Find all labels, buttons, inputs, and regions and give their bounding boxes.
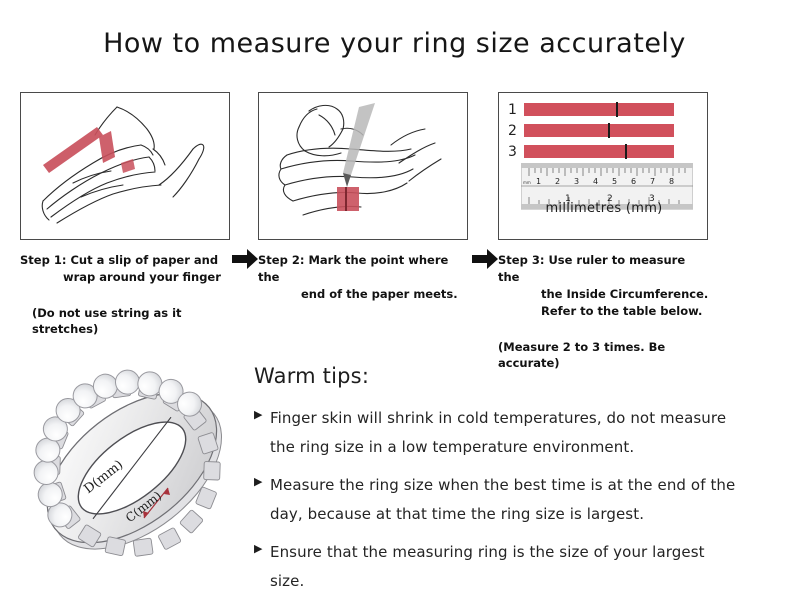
ring-illustration: D(mm) C(mm) — [18, 352, 246, 580]
strip-row: 2 — [508, 122, 704, 139]
warm-tips-section: Warm tips: ▶ Finger skin will shrink in … — [254, 364, 774, 605]
step-1-caption-line-1: Cut a slip of paper and — [70, 253, 218, 267]
warm-tips-title: Warm tips: — [254, 364, 774, 388]
step-2-caption-line-2: end of the paper meets. — [258, 286, 470, 303]
strip-bar — [524, 103, 674, 116]
step-3-panel: 1 2 3 — [498, 92, 708, 240]
tip-item: ▶ Finger skin will shrink in cold temper… — [254, 404, 774, 462]
triangle-bullet-icon: ▶ — [254, 538, 270, 554]
paper-slip-wrapped-shape — [99, 131, 135, 173]
step-3-inside-circumference-emphasis: Inside Circumference — [567, 287, 704, 301]
tip-text: Finger skin will shrink in cold temperat… — [270, 404, 740, 462]
step-column-2: Step 2: Mark the point where the end of … — [258, 92, 470, 303]
strip-number: 1 — [508, 103, 524, 117]
strip-bar — [524, 124, 674, 137]
strip-row: 1 — [508, 101, 704, 118]
strip-bar — [524, 145, 674, 158]
tip-text: Ensure that the measuring ring is the si… — [270, 538, 740, 596]
strip-number: 2 — [508, 124, 524, 138]
step-2-lead: Step 2: — [258, 253, 304, 267]
tip-text: Measure the ring size when the best time… — [270, 471, 740, 529]
step-3-caption: Step 3: Use ruler to measure the the Ins… — [498, 252, 710, 320]
step-1-panel — [20, 92, 230, 240]
svg-text:6: 6 — [631, 177, 636, 186]
hand-with-paper-slip-illustration — [21, 93, 229, 239]
measured-strips-group: 1 2 3 — [508, 101, 704, 164]
step-1-caption: Step 1: Cut a slip of paper and wrap aro… — [20, 252, 232, 286]
step-column-3: 1 2 3 — [498, 92, 710, 371]
tip-item: ▶ Ensure that the measuring ring is the … — [254, 538, 774, 596]
svg-text:3: 3 — [574, 177, 579, 186]
step-3-lead: Step 3: — [498, 253, 544, 267]
svg-text:mm: mm — [523, 180, 531, 185]
svg-text:2: 2 — [555, 177, 560, 186]
step-1-note: (Do not use string as it stretches) — [20, 305, 232, 337]
step-3-caption-line-2-post: . — [704, 287, 708, 301]
step-1-lead: Step 1: — [20, 253, 66, 267]
tip-item: ▶ Measure the ring size when the best ti… — [254, 471, 774, 529]
strip-row: 3 — [508, 143, 704, 160]
step-2-caption: Step 2: Mark the point where the end of … — [258, 252, 470, 303]
svg-text:1: 1 — [536, 177, 541, 186]
step-column-1: Step 1: Cut a slip of paper and wrap aro… — [20, 92, 232, 337]
arrow-right-icon-2 — [472, 248, 498, 270]
svg-text:5: 5 — [612, 177, 617, 186]
step-3-caption-line-2-pre: the — [541, 287, 567, 301]
strip-mark — [608, 123, 610, 138]
steps-row: Step 1: Cut a slip of paper and wrap aro… — [0, 92, 789, 342]
bottom-section: D(mm) C(mm) Warm tips: ▶ Finger skin wil… — [0, 344, 789, 606]
arrow-right-icon-1 — [232, 248, 258, 270]
hand-marking-paper-with-pen-illustration — [259, 93, 467, 239]
paper-slip-shape — [43, 127, 103, 173]
paper-strip-on-finger-shape — [337, 187, 359, 211]
ruler-unit-label: millimetres (mm) — [499, 201, 708, 216]
svg-text:8: 8 — [669, 177, 674, 186]
page-title: How to measure your ring size accurately — [0, 28, 789, 59]
strip-mark — [616, 102, 618, 117]
svg-text:4: 4 — [593, 177, 598, 186]
pen-shape — [343, 103, 375, 187]
strip-number: 3 — [508, 145, 524, 159]
step-1-caption-line-2: wrap around your finger — [20, 269, 232, 286]
triangle-bullet-icon: ▶ — [254, 471, 270, 487]
step-3-caption-line-3: Refer to the table below. — [498, 303, 710, 320]
triangle-bullet-icon: ▶ — [254, 404, 270, 420]
strip-mark — [625, 144, 627, 159]
step-2-panel — [258, 92, 468, 240]
svg-text:7: 7 — [650, 177, 655, 186]
